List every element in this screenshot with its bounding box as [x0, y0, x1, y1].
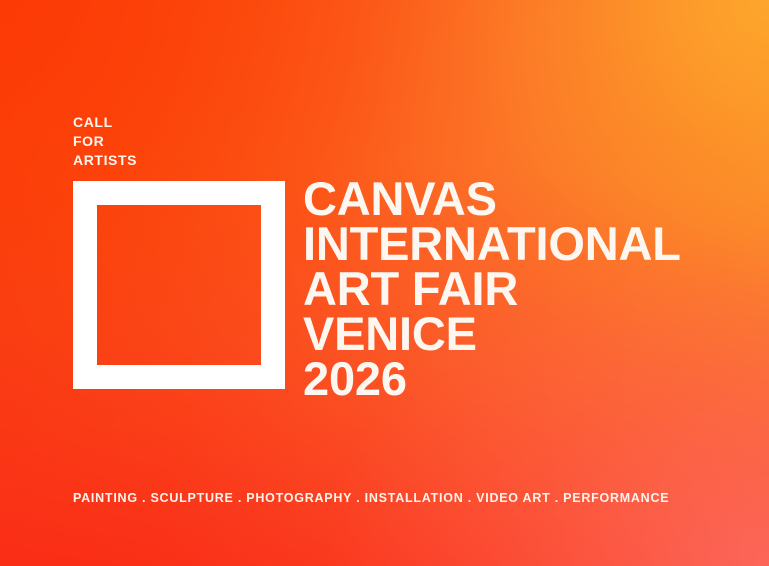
- call-for-artists-poster: CALL FOR ARTISTS CANVAS INTERNATIONAL AR…: [0, 0, 769, 566]
- headline-line-5: 2026: [303, 356, 681, 401]
- headline-line-4: VENICE: [303, 311, 681, 356]
- square-frame-icon: [73, 181, 285, 389]
- eyebrow-line-2: FOR: [73, 132, 137, 151]
- page-title: CANVAS INTERNATIONAL ART FAIR VENICE 202…: [303, 176, 681, 401]
- poster-content: CALL FOR ARTISTS CANVAS INTERNATIONAL AR…: [0, 0, 769, 566]
- eyebrow-call-for-artists: CALL FOR ARTISTS: [73, 113, 137, 170]
- eyebrow-line-1: CALL: [73, 113, 137, 132]
- headline-line-3: ART FAIR: [303, 266, 681, 311]
- headline-line-2: INTERNATIONAL: [303, 221, 681, 266]
- eyebrow-line-3: ARTISTS: [73, 151, 137, 170]
- headline-line-1: CANVAS: [303, 176, 681, 221]
- disciplines-list: PAINTING . SCULPTURE . PHOTOGRAPHY . INS…: [73, 491, 669, 505]
